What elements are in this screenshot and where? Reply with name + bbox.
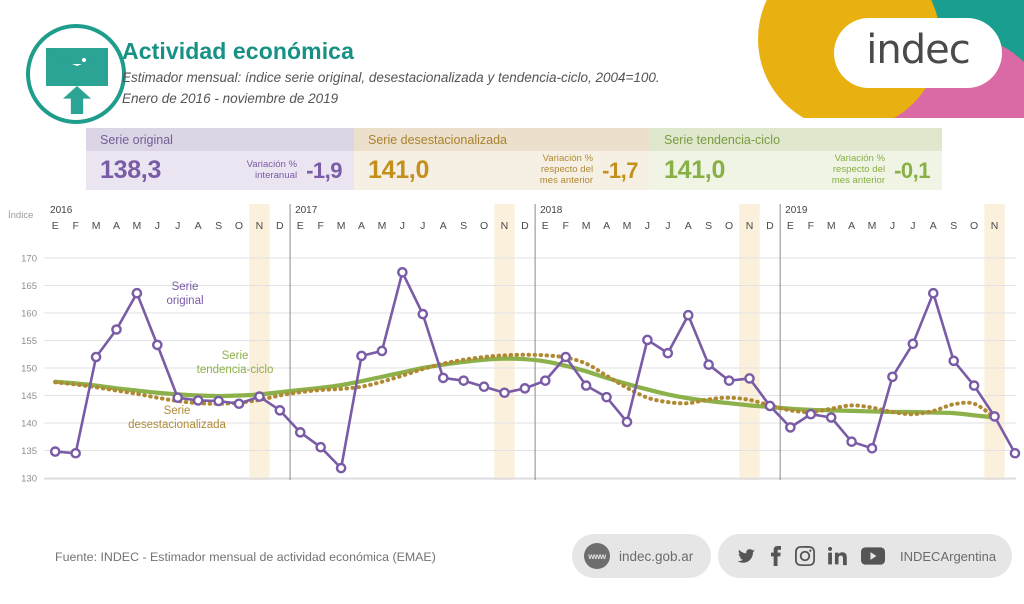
- variation-label-line-3: mes anterior: [540, 175, 593, 186]
- x-axis-month-label: F: [72, 220, 78, 232]
- x-axis-month-label: F: [317, 220, 323, 232]
- x-axis-month-label: N: [991, 220, 999, 232]
- brand-decoration: indec: [750, 0, 1024, 118]
- envelope-clasp-dot: [82, 58, 86, 62]
- data-point-marker: [766, 402, 774, 410]
- variation-label-line-1: Variación %: [247, 159, 297, 170]
- y-axis-tick-label: 135: [21, 446, 37, 457]
- x-axis-month-label: M: [133, 220, 142, 232]
- website-pill[interactable]: www indec.gob.ar: [572, 534, 711, 578]
- kpi-value-serie-original: 138,3: [100, 156, 161, 185]
- kpi-summary-table: Serie original 138,3 Variación % interan…: [86, 128, 942, 190]
- source-note: Fuente: INDEC - Estimador mensual de act…: [55, 550, 436, 564]
- data-point-marker: [439, 374, 447, 382]
- variation-label-line-2: respecto del: [541, 164, 593, 175]
- x-axis-month-label: E: [542, 220, 549, 232]
- variation-label-line-2: respecto del: [833, 164, 885, 175]
- data-point-marker: [705, 361, 713, 369]
- x-axis-month-label: J: [175, 220, 180, 232]
- data-point-marker: [398, 268, 406, 276]
- data-point-marker: [562, 353, 570, 361]
- kpi-body-serie-original: 138,3 Variación % interanual -1,9: [86, 151, 354, 190]
- up-arrow-shape: [63, 86, 91, 114]
- x-axis-month-label: A: [440, 220, 447, 232]
- x-axis-month-label: M: [623, 220, 632, 232]
- kpi-header-serie-original: Serie original: [86, 128, 354, 151]
- data-point-marker: [214, 397, 222, 405]
- x-axis-month-label: E: [787, 220, 794, 232]
- x-axis-month-label: F: [563, 220, 569, 232]
- indec-logo-text: indec: [866, 30, 969, 76]
- y-axis-tick-label: 150: [21, 364, 37, 375]
- data-point-marker: [725, 377, 733, 385]
- y-axis-tick-label: 165: [21, 281, 37, 292]
- social-handle: INDECArgentina: [900, 549, 996, 564]
- data-point-marker: [868, 444, 876, 452]
- data-point-marker: [460, 377, 468, 385]
- data-point-marker: [807, 410, 815, 418]
- data-point-marker: [848, 438, 856, 446]
- data-point-marker: [684, 311, 692, 319]
- chart-canvas: 1301351401451501551601651702016EFMAMJJAS…: [0, 204, 1024, 504]
- subtitle-line-2: Enero de 2016 - noviembre de 2019: [122, 89, 762, 110]
- x-axis-month-label: M: [378, 220, 387, 232]
- x-axis-month-label: M: [868, 220, 877, 232]
- kpi-card-serie-tendencia-ciclo: Serie tendencia-ciclo 141,0 Variación % …: [650, 128, 942, 190]
- data-point-marker: [153, 341, 161, 349]
- kpi-variation-label-serie-original: Variación % interanual: [247, 160, 297, 181]
- november-highlight-band: [249, 204, 269, 480]
- linkedin-icon[interactable]: [828, 546, 848, 566]
- kpi-card-serie-original: Serie original 138,3 Variación % interan…: [86, 128, 354, 190]
- x-axis-month-label: M: [582, 220, 591, 232]
- briefcase-up-arrow-icon: [26, 24, 126, 124]
- x-axis-year-label: 2016: [50, 205, 73, 216]
- x-axis-month-label: A: [685, 220, 692, 232]
- x-axis-month-label: A: [848, 220, 855, 232]
- data-point-marker: [255, 393, 263, 401]
- x-axis-month-label: N: [501, 220, 509, 232]
- kpi-header-serie-tendencia-ciclo: Serie tendencia-ciclo: [650, 128, 942, 151]
- x-axis-month-label: N: [256, 220, 264, 232]
- series-annotation: Serie: [164, 405, 191, 417]
- series-annotation: Serie: [222, 350, 249, 362]
- x-axis-month-label: O: [725, 220, 733, 232]
- data-point-marker: [970, 382, 978, 390]
- x-axis-month-label: A: [603, 220, 610, 232]
- kpi-body-serie-desestacionalizada: 141,0 Variación % respecto del mes anter…: [354, 151, 650, 190]
- series-annotation: Serie: [172, 281, 199, 293]
- data-point-marker: [1011, 449, 1019, 457]
- data-point-marker: [888, 373, 896, 381]
- x-axis-month-label: O: [970, 220, 978, 232]
- variation-label-line-1: Variación %: [835, 153, 885, 164]
- x-axis-month-label: J: [420, 220, 425, 232]
- data-point-marker: [133, 289, 141, 297]
- x-axis-month-label: J: [910, 220, 915, 232]
- youtube-icon[interactable]: [861, 547, 885, 565]
- data-point-marker: [623, 418, 631, 426]
- data-point-marker: [541, 377, 549, 385]
- x-axis-month-label: M: [92, 220, 101, 232]
- page-title: Actividad económica: [122, 38, 354, 65]
- kpi-variation-label-serie-tendencia-ciclo: Variación % respecto del mes anterior: [832, 154, 885, 186]
- data-point-marker: [786, 423, 794, 431]
- x-axis-month-label: J: [665, 220, 670, 232]
- data-point-marker: [500, 389, 508, 397]
- x-axis-month-label: M: [827, 220, 836, 232]
- data-point-marker: [909, 340, 917, 348]
- emae-line-chart: 1301351401451501551601651702016EFMAMJJAS…: [0, 204, 1024, 504]
- november-highlight-band: [984, 204, 1004, 480]
- social-pill[interactable]: INDECArgentina: [718, 534, 1012, 578]
- data-point-marker: [643, 336, 651, 344]
- x-axis-month-label: J: [155, 220, 160, 232]
- data-point-marker: [296, 428, 304, 436]
- x-axis-month-label: A: [195, 220, 202, 232]
- kpi-variation-value-serie-original: -1,9: [306, 158, 342, 184]
- y-axis-tick-label: 140: [21, 419, 37, 430]
- data-point-marker: [745, 374, 753, 382]
- x-axis-month-label: D: [766, 220, 774, 232]
- data-point-marker: [582, 382, 590, 390]
- kpi-variation-value-serie-desestacionalizada: -1,7: [602, 158, 638, 184]
- x-axis-year-label: 2017: [295, 205, 318, 216]
- y-axis-tick-label: 155: [21, 336, 37, 347]
- data-point-marker: [235, 400, 243, 408]
- data-point-marker: [950, 357, 958, 365]
- kpi-value-serie-tendencia-ciclo: 141,0: [664, 156, 725, 185]
- series-annotation: original: [166, 295, 203, 307]
- website-url: indec.gob.ar: [619, 549, 693, 564]
- x-axis-month-label: A: [113, 220, 120, 232]
- data-point-marker: [317, 443, 325, 451]
- data-point-marker: [72, 449, 80, 457]
- x-axis-month-label: E: [297, 220, 304, 232]
- x-axis-month-label: O: [235, 220, 243, 232]
- x-axis-month-label: S: [950, 220, 957, 232]
- x-axis-month-label: M: [337, 220, 346, 232]
- x-axis-month-label: D: [521, 220, 529, 232]
- data-point-marker: [419, 310, 427, 318]
- data-point-marker: [174, 394, 182, 402]
- infographic-page: indec Actividad económica Estimador mens…: [0, 0, 1024, 604]
- twitter-icon[interactable]: [736, 547, 757, 565]
- data-point-marker: [112, 325, 120, 333]
- data-point-marker: [602, 393, 610, 401]
- x-axis-year-label: 2019: [785, 205, 808, 216]
- kpi-value-serie-desestacionalizada: 141,0: [368, 156, 429, 185]
- x-axis-month-label: J: [890, 220, 895, 232]
- data-point-marker: [521, 384, 529, 392]
- kpi-body-serie-tendencia-ciclo: 141,0 Variación % respecto del mes anter…: [650, 151, 942, 190]
- y-axis-tick-label: 130: [21, 474, 37, 485]
- page-subtitle: Estimador mensual: índice serie original…: [122, 68, 762, 109]
- x-axis-month-label: A: [930, 220, 937, 232]
- x-axis-month-label: D: [276, 220, 284, 232]
- facebook-icon[interactable]: [770, 546, 782, 566]
- x-axis-month-label: N: [746, 220, 754, 232]
- indec-logo: indec: [834, 18, 1002, 88]
- variation-label-line-3: mes anterior: [832, 175, 885, 186]
- november-highlight-band: [739, 204, 759, 480]
- data-point-marker: [276, 406, 284, 414]
- x-axis-month-label: F: [808, 220, 814, 232]
- data-point-marker: [990, 412, 998, 420]
- series-annotation: desestacionalizada: [128, 419, 226, 431]
- y-axis-tick-label: 160: [21, 309, 37, 320]
- kpi-variation-value-serie-tendencia-ciclo: -0,1: [894, 158, 930, 184]
- data-point-marker: [664, 349, 672, 357]
- x-axis-year-label: 2018: [540, 205, 563, 216]
- variation-label-line-1: Variación %: [543, 153, 593, 164]
- data-point-marker: [92, 353, 100, 361]
- data-point-marker: [194, 396, 202, 404]
- x-axis-month-label: S: [460, 220, 467, 232]
- series-annotation: tendencia-ciclo: [197, 364, 274, 376]
- kpi-card-serie-desestacionalizada: Serie desestacionalizada 141,0 Variación…: [354, 128, 650, 190]
- y-axis-tick-label: 170: [21, 254, 37, 265]
- x-axis-month-label: E: [52, 220, 59, 232]
- data-point-marker: [480, 383, 488, 391]
- data-point-marker: [378, 347, 386, 355]
- november-highlight-band: [494, 204, 514, 480]
- www-icon: www: [584, 543, 610, 569]
- kpi-header-serie-desestacionalizada: Serie desestacionalizada: [354, 128, 650, 151]
- data-point-marker: [337, 464, 345, 472]
- data-point-marker: [51, 448, 59, 456]
- variation-label-line-2: interanual: [255, 170, 297, 181]
- y-axis-tick-label: 145: [21, 391, 37, 402]
- x-axis-month-label: J: [400, 220, 405, 232]
- data-point-marker: [357, 352, 365, 360]
- kpi-variation-label-serie-desestacionalizada: Variación % respecto del mes anterior: [540, 154, 593, 186]
- x-axis-month-label: S: [705, 220, 712, 232]
- data-point-marker: [929, 289, 937, 297]
- instagram-icon[interactable]: [795, 546, 815, 566]
- x-axis-month-label: S: [215, 220, 222, 232]
- data-point-marker: [827, 413, 835, 421]
- x-axis-month-label: J: [645, 220, 650, 232]
- subtitle-line-1: Estimador mensual: índice serie original…: [122, 68, 762, 89]
- x-axis-month-label: O: [480, 220, 488, 232]
- x-axis-month-label: A: [358, 220, 365, 232]
